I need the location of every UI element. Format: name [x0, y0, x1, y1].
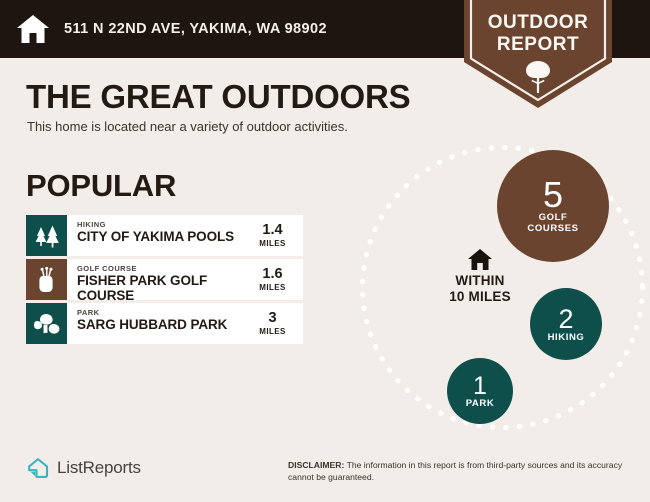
stat-label: HIKING	[548, 332, 585, 343]
stat-label: GOLF	[539, 212, 568, 223]
list-item-distance: 1.4 MILES	[251, 215, 303, 256]
listreports-wordmark: ListReports	[57, 458, 141, 478]
stat-count: 5	[543, 178, 563, 212]
home-icon	[467, 248, 493, 271]
list-item-category: GOLF COURSE	[77, 264, 251, 273]
list-item-distance: 1.6 MILES	[251, 259, 303, 300]
stat-count: 2	[558, 306, 573, 332]
list-item-body: PARK SARG HUBBARD PARK	[67, 303, 251, 344]
stat-label: PARK	[466, 398, 495, 409]
distance-unit: MILES	[259, 326, 285, 337]
stat-circle-hiking: 2 HIKING	[530, 288, 602, 360]
list-item[interactable]: PARK SARG HUBBARD PARK 3 MILES	[26, 303, 303, 344]
page-subtitle: This home is located near a variety of o…	[27, 119, 348, 134]
page-title: THE GREAT OUTDOORS	[26, 78, 410, 116]
stat-label-2: COURSES	[527, 223, 578, 234]
footer: ListReports DISCLAIMER: The information …	[0, 442, 650, 502]
popular-list: HIKING CITY OF YAKIMA POOLS 1.4 MILES GO…	[26, 215, 303, 347]
list-item-name: SARG HUBBARD PARK	[77, 317, 251, 332]
popular-heading: POPULAR	[26, 168, 176, 204]
center-line-1: WITHIN	[426, 273, 534, 289]
stat-count: 1	[473, 374, 487, 398]
diagram-center: WITHIN 10 MILES	[426, 248, 534, 305]
listreports-logo[interactable]: ListReports	[26, 456, 141, 480]
distance-value: 1.6	[262, 267, 282, 282]
golf-bag-icon	[26, 259, 67, 300]
list-item-category: PARK	[77, 308, 251, 317]
trees-icon	[26, 215, 67, 256]
disclaimer-label: DISCLAIMER:	[288, 460, 344, 470]
list-item-distance: 3 MILES	[251, 303, 303, 344]
disclaimer: DISCLAIMER: The information in this repo…	[288, 460, 628, 483]
distance-unit: MILES	[259, 238, 285, 249]
list-item-name: CITY OF YAKIMA POOLS	[77, 229, 251, 244]
distance-unit: MILES	[259, 282, 285, 293]
list-item-body: GOLF COURSE FISHER PARK GOLF COURSE	[67, 259, 251, 300]
home-icon	[16, 14, 50, 44]
park-bushes-icon	[26, 303, 67, 344]
stat-circle-golf-courses: 5 GOLF COURSES	[497, 150, 609, 262]
list-item-body: HIKING CITY OF YAKIMA POOLS	[67, 215, 251, 256]
list-item[interactable]: GOLF COURSE FISHER PARK GOLF COURSE 1.6 …	[26, 259, 303, 300]
list-item[interactable]: HIKING CITY OF YAKIMA POOLS 1.4 MILES	[26, 215, 303, 256]
list-item-category: HIKING	[77, 220, 251, 229]
stat-circle-park: 1 PARK	[447, 358, 513, 424]
outdoor-report-badge: OUTDOOR REPORT	[464, 0, 612, 108]
listreports-house-icon	[26, 456, 50, 480]
distance-value: 3	[268, 311, 276, 326]
center-line-2: 10 MILES	[426, 289, 534, 305]
list-item-name: FISHER PARK GOLF COURSE	[77, 273, 251, 300]
property-address: 511 N 22ND AVE, YAKIMA, WA 98902	[64, 21, 327, 37]
distance-value: 1.4	[262, 223, 282, 238]
